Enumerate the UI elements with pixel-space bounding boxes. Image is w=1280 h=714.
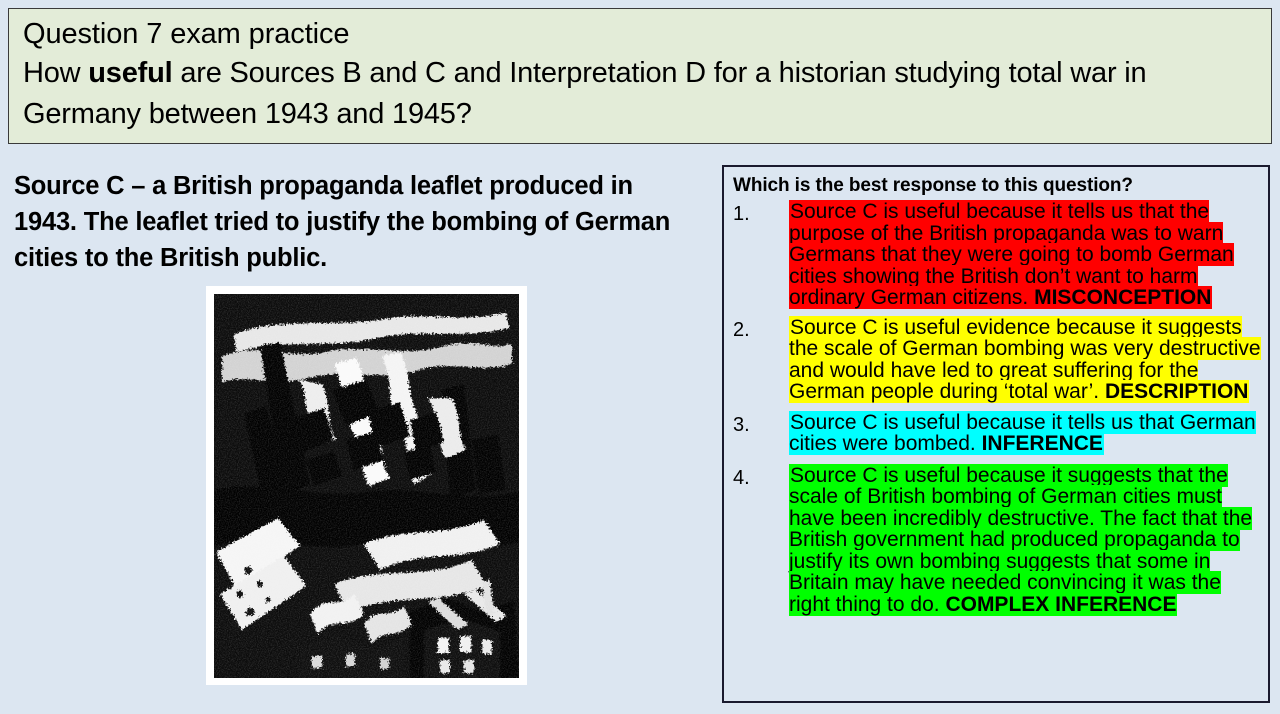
- answer-option-1-body: Source C is useful because it tells us t…: [789, 201, 1267, 309]
- answer-option-4-label: COMPLEX INFERENCE: [945, 593, 1176, 616]
- answer-option-1-number: 1.: [733, 201, 789, 225]
- source-propaganda-leaflet-image: [214, 294, 519, 678]
- answer-option-4-body: Source C is useful because it suggests t…: [789, 465, 1267, 616]
- question-title: Question 7 exam practice: [23, 15, 1257, 53]
- question-box: Question 7 exam practice How useful are …: [8, 8, 1272, 144]
- answer-option-3-body: Source C is useful because it tells us t…: [789, 412, 1267, 455]
- question-text: How useful are Sources B and C and Inter…: [23, 53, 1257, 135]
- answer-option-3-label: INFERENCE: [982, 432, 1103, 455]
- answer-option-2-body: Source C is useful evidence because it s…: [789, 317, 1267, 403]
- answer-option-3-number: 3.: [733, 412, 789, 436]
- answers-panel-heading: Which is the best response to this quest…: [733, 174, 1268, 198]
- answer-option-2-number: 2.: [733, 317, 789, 341]
- answer-option-1[interactable]: 1. Source C is useful because it tells u…: [733, 201, 1268, 309]
- question-text-start: How: [23, 57, 88, 89]
- answer-option-2-highlight: Source C is useful evidence because it s…: [789, 316, 1261, 404]
- answer-option-1-highlight: Source C is useful because it tells us t…: [789, 200, 1234, 309]
- answer-option-4-highlight: Source C is useful because it suggests t…: [789, 464, 1252, 616]
- question-text-emphasis: useful: [88, 57, 172, 89]
- answer-option-1-label: MISCONCEPTION: [1034, 286, 1211, 309]
- answer-option-4-number: 4.: [733, 465, 789, 489]
- source-image-frame: [206, 286, 527, 685]
- source-caption: Source C – a British propaganda leaflet …: [14, 168, 694, 276]
- question-text-rest: are Sources B and C and Interpretation D…: [23, 57, 1146, 130]
- answer-option-2[interactable]: 2. Source C is useful evidence because i…: [733, 317, 1268, 403]
- answer-option-2-label: DESCRIPTION: [1105, 380, 1249, 403]
- answer-option-3[interactable]: 3. Source C is useful because it tells u…: [733, 412, 1268, 455]
- answer-option-3-highlight: Source C is useful because it tells us t…: [789, 411, 1256, 456]
- answers-panel: Which is the best response to this quest…: [722, 165, 1270, 703]
- answer-option-4[interactable]: 4. Source C is useful because it suggest…: [733, 465, 1268, 616]
